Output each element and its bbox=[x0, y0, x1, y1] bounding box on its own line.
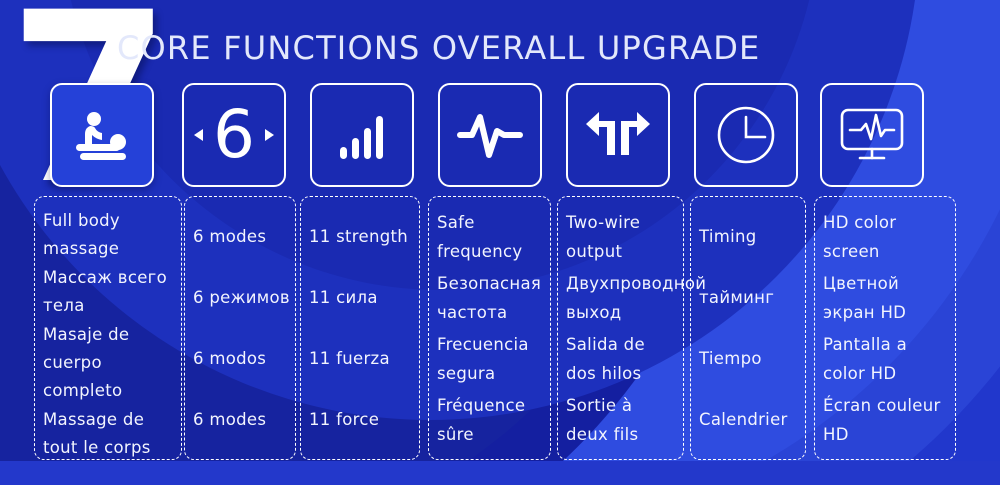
feature-line-ru: 6 режимов bbox=[193, 284, 289, 312]
feature-line-en: Safe frequency bbox=[437, 209, 544, 266]
feature-panel-full-body-massage: Full body massage Массаж всего тела Masa… bbox=[34, 196, 182, 460]
feature-panel-eleven-strength: 11 strength 11 сила 11 fuerza 11 force bbox=[300, 196, 420, 460]
feature-panel-row: Full body massage Массаж всего тела Masa… bbox=[0, 196, 1000, 462]
background-bottom-band bbox=[0, 461, 1000, 485]
feature-line-es: Frecuencia segura bbox=[437, 331, 544, 388]
feature-line-fr: 11 force bbox=[309, 406, 413, 434]
feature-line-en: Timing bbox=[699, 223, 799, 251]
feature-line-ru: тайминг bbox=[699, 284, 799, 312]
pulse-wave-icon bbox=[457, 107, 523, 163]
feature-line-es: 6 modos bbox=[193, 345, 289, 373]
six-modes-selector-icon: 6 bbox=[213, 102, 255, 168]
two-way-arrows-icon bbox=[585, 111, 651, 159]
feature-line-ru: Безопасная частота bbox=[437, 270, 544, 327]
feature-panel-two-wire-output: Two-wire output Двухпроводной выход Sali… bbox=[557, 196, 684, 460]
feature-panel-six-modes: 6 modes 6 режимов 6 modos 6 modes bbox=[184, 196, 296, 460]
feature-line-es: Tiempo bbox=[699, 345, 799, 373]
feature-line-ru: 11 сила bbox=[309, 284, 413, 312]
feature-line-es: Masaje de cuerpo completo bbox=[43, 321, 175, 406]
feature-line-ru: Двухпроводной выход bbox=[566, 270, 677, 327]
icon-card-timing[interactable] bbox=[694, 83, 798, 187]
icon-card-six-modes[interactable]: 6 bbox=[182, 83, 286, 187]
icon-card-two-wire[interactable] bbox=[566, 83, 670, 187]
clock-icon bbox=[715, 104, 777, 166]
feature-line-es: Salida de dos hilos bbox=[566, 331, 677, 388]
feature-line-fr: Écran couleur HD bbox=[823, 392, 949, 449]
feature-panel-hd-color-screen: HD color screen Цветной экран HD Pantall… bbox=[814, 196, 956, 460]
promo-banner: 7 CORE FUNCTIONS OVERALL UPGRADE 6 bbox=[0, 0, 1000, 485]
feature-line-ru: Массаж всего тела bbox=[43, 264, 175, 321]
feature-panel-safe-frequency: Safe frequency Безопасная частота Frecue… bbox=[428, 196, 551, 460]
feature-line-fr: Sortie à deux fils bbox=[566, 392, 677, 449]
feature-line-fr: Fréquence sûre bbox=[437, 392, 544, 449]
feature-line-en: HD color screen bbox=[823, 209, 949, 266]
icon-card-frequency[interactable] bbox=[438, 83, 542, 187]
feature-line-fr: Calendrier bbox=[699, 406, 799, 434]
signal-bars-icon bbox=[334, 107, 390, 163]
feature-line-en: 11 strength bbox=[309, 223, 413, 251]
feature-line-fr: 6 modes bbox=[193, 406, 289, 434]
massage-therapy-icon bbox=[70, 106, 134, 164]
icon-card-hd-screen[interactable] bbox=[820, 83, 924, 187]
feature-line-en: Two-wire output bbox=[566, 209, 677, 266]
monitor-pulse-icon bbox=[837, 105, 907, 165]
feature-line-en: Full body massage bbox=[43, 207, 175, 264]
icon-card-strength[interactable] bbox=[310, 83, 414, 187]
icon-card-massage[interactable] bbox=[50, 83, 154, 187]
feature-line-ru: Цветной экран HD bbox=[823, 270, 949, 327]
feature-line-fr: Massage de tout le corps bbox=[43, 406, 175, 463]
feature-line-es: 11 fuerza bbox=[309, 345, 413, 373]
icon-card-row: 6 bbox=[0, 83, 1000, 189]
feature-panel-timing: Timing тайминг Tiempo Calendrier bbox=[690, 196, 806, 460]
page-title: CORE FUNCTIONS OVERALL UPGRADE bbox=[117, 29, 760, 67]
chevron-left-icon[interactable] bbox=[194, 129, 203, 141]
feature-line-es: Pantalla a color HD bbox=[823, 331, 949, 388]
feature-line-en: 6 modes bbox=[193, 223, 289, 251]
chevron-right-icon[interactable] bbox=[265, 129, 274, 141]
